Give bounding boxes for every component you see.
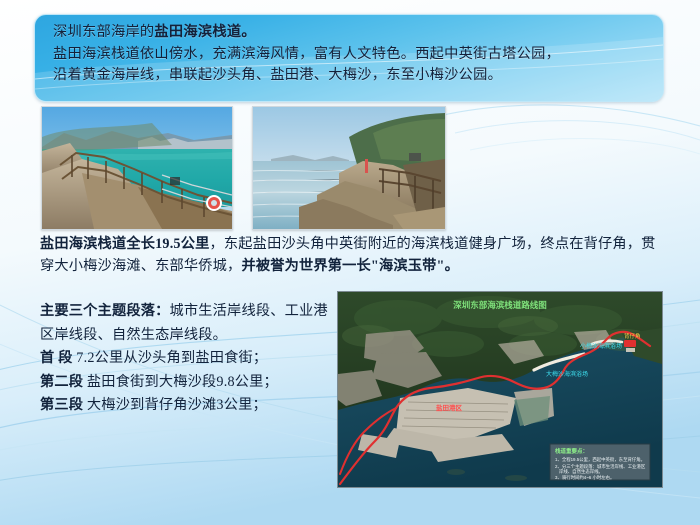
slide-canvas: 深圳东部海岸的盐田海滨栈道。 盐田海滨栈道依山傍水，充满滨海风情，富有人文特色。… (0, 0, 700, 525)
route-map-graphic: 深圳东部海滨栈道路线图 大梅沙海滨浴场 小梅沙海滨浴场 盐田港区 背仔角 栈道重… (338, 292, 662, 487)
banner-line-3: 沿着黄金海岸线，串联起沙头角、盐田港、大梅沙，东至小梅沙公园。 (53, 65, 649, 87)
segment-themes-label: 主要三个主题段落： (40, 303, 170, 319)
map-legend-title: 栈道重要点： (555, 447, 588, 455)
segment-1-text: 7.2公里从沙头角到盐田食街； (76, 350, 267, 366)
map-label-beizaijiao: 背仔角 (624, 332, 641, 340)
map-label-dameisha: 大梅沙海滨浴场 (546, 370, 588, 378)
segment-themes: 主要三个主题段落：城市生活岸线段、工业港区岸线段、自然生态岸线段。 (40, 300, 340, 347)
map-label-yantian-port: 盐田港区 (436, 403, 463, 412)
segment-1-label: 首 段 (40, 350, 73, 366)
banner-title-bold: 盐田海滨栈道。 (154, 24, 255, 40)
banner-line-2: 盐田海滨栈道依山傍水，充满滨海风情，富有人文特色。西起中英街古塔公园， (53, 44, 649, 66)
paragraph-middle: 盐田海滨栈道全长19.5公里，东起盐田沙头角中英街附近的海滨栈道健身广场，终点在… (40, 234, 664, 277)
map-legend-item-2b: 岸线、自然生态岸线。 (559, 468, 603, 475)
segment-2-label: 第二段 (40, 374, 83, 390)
route-map-image: 深圳东部海滨栈道路线图 大梅沙海滨浴场 小梅沙海滨浴场 盐田港区 背仔角 栈道重… (337, 291, 663, 488)
segment-3: 第三段 大梅沙到背仔角沙滩3公里； (40, 394, 340, 418)
coastal-boardwalk-photo-image (42, 107, 232, 229)
banner-text-block: 深圳东部海岸的盐田海滨栈道。 盐田海滨栈道依山傍水，充满滨海风情，富有人文特色。… (35, 15, 663, 87)
para-mid-bold-1: 盐田海滨栈道全长19.5公里 (40, 236, 210, 252)
para-mid-bold-2: 并被誉为世界第一长"海滨玉带"。 (241, 258, 459, 274)
rocky-coast-photo-image (253, 107, 445, 229)
segment-1: 首 段 7.2公里从沙头角到盐田食街； (40, 347, 340, 371)
segment-3-text: 大梅沙到背仔角沙滩3公里； (87, 397, 267, 413)
banner-title-prefix: 深圳东部海岸的 (53, 24, 154, 40)
header-banner: 深圳东部海岸的盐田海滨栈道。 盐田海滨栈道依山傍水，充满滨海风情，富有人文特色。… (34, 14, 664, 102)
map-label-xiaomeisha: 小梅沙海滨浴场 (580, 342, 622, 350)
map-title: 深圳东部海滨栈道路线图 (453, 300, 547, 310)
banner-title-line: 深圳东部海岸的盐田海滨栈道。 (53, 22, 649, 44)
segment-2: 第二段 盐田食街到大梅沙段9.8公里； (40, 371, 340, 395)
segment-3-label: 第三段 (40, 397, 83, 413)
paragraph-left: 主要三个主题段落：城市生活岸线段、工业港区岸线段、自然生态岸线段。 首 段 7.… (40, 300, 340, 418)
map-legend-item-1: 1、全程19.5公里，西起中英街，东至背仔角。 (555, 456, 645, 463)
rocky-coast-photo (252, 106, 446, 230)
map-legend: 栈道重要点： 1、全程19.5公里，西起中英街，东至背仔角。 2、分三个主题段落… (550, 444, 650, 481)
segment-2-text: 盐田食街到大梅沙段9.8公里； (87, 374, 278, 390)
map-legend-item-3: 3、骑行时间约4~6 小时左右。 (555, 474, 614, 481)
coastal-boardwalk-photo (41, 106, 233, 230)
